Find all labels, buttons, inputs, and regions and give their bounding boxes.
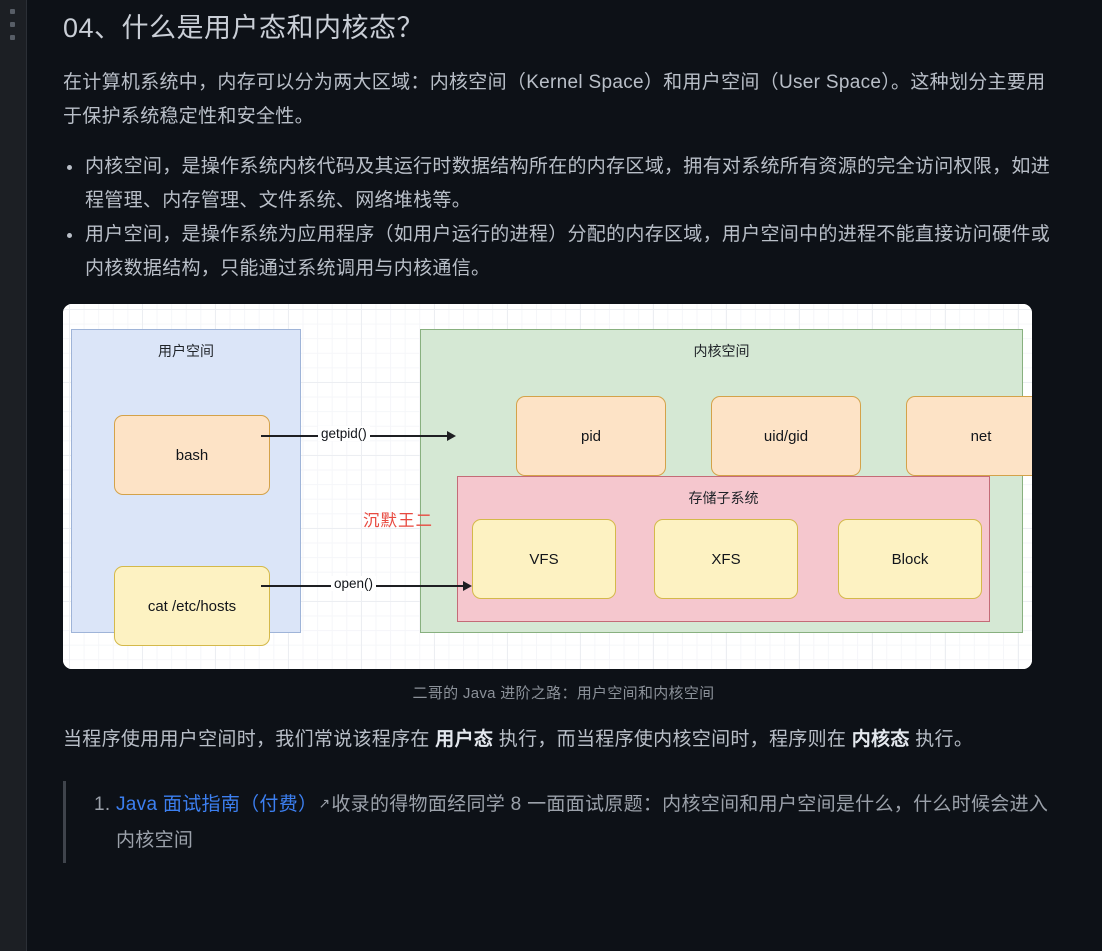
node-bash: bash (114, 415, 270, 495)
rail-dot (10, 22, 15, 27)
footnote-link-java-interview-guide[interactable]: Java 面试指南（付费） (116, 794, 317, 815)
closing-text-2: 执行，而当程序使内核空间时，程序则在 (493, 729, 852, 750)
arrow-open-head-icon (463, 581, 472, 591)
footnote-item: Java 面试指南（付费）↗收录的得物面经同学 8 一面面试原题：内核空间和用户… (116, 785, 1064, 859)
region-storage-subsystem-label: 存储子系统 (458, 488, 989, 508)
closing-paragraph: 当程序使用用户空间时，我们常说该程序在 用户态 执行，而当程序使内核空间时，程序… (63, 723, 1064, 757)
list-item: 内核空间，是操作系统内核代码及其运行时数据结构所在的内存区域，拥有对系统所有资源… (63, 150, 1064, 218)
diagram-figure: 用户空间 bash cat /etc/hosts 内核空间 pid uid/gi… (63, 304, 1064, 703)
article-content: 04、什么是用户态和内核态？ 在计算机系统中，内存可以分为两大区域：内核空间（K… (27, 0, 1102, 951)
node-uid-gid: uid/gid (711, 396, 861, 476)
diagram-canvas: 用户空间 bash cat /etc/hosts 内核空间 pid uid/gi… (63, 304, 1032, 669)
left-rail (0, 0, 27, 951)
closing-bold-user-mode: 用户态 (435, 729, 493, 750)
definition-list: 内核空间，是操作系统内核代码及其运行时数据结构所在的内存区域，拥有对系统所有资源… (63, 150, 1064, 286)
closing-text-1: 当程序使用用户空间时，我们常说该程序在 (63, 729, 435, 750)
external-link-icon: ↗ (317, 795, 331, 811)
closing-text-3: 执行。 (910, 729, 973, 750)
arrow-getpid-label: getpid() (318, 426, 370, 441)
closing-bold-kernel-mode: 内核态 (852, 729, 910, 750)
node-net: net (906, 396, 1032, 476)
region-kernel-space: 内核空间 pid uid/gid net 存储子系统 VFS XFS Block (420, 329, 1023, 633)
arrow-open-label: open() (331, 576, 376, 591)
vertical-dots-icon[interactable] (10, 9, 15, 40)
diagram-card: 用户空间 bash cat /etc/hosts 内核空间 pid uid/gi… (63, 304, 1032, 669)
diagram-watermark: 沉默王二 (363, 507, 433, 531)
node-cat-etc-hosts: cat /etc/hosts (114, 566, 270, 646)
region-user-space: 用户空间 bash cat /etc/hosts (71, 329, 301, 633)
footnote-list: Java 面试指南（付费）↗收录的得物面经同学 8 一面面试原题：内核空间和用户… (100, 785, 1064, 859)
node-vfs: VFS (472, 519, 616, 599)
page-title: 04、什么是用户态和内核态？ (63, 0, 1064, 46)
region-user-space-label: 用户空间 (72, 341, 300, 361)
arrow-getpid-head-icon (447, 431, 456, 441)
region-storage-subsystem: 存储子系统 VFS XFS Block (457, 476, 990, 622)
intro-paragraph: 在计算机系统中，内存可以分为两大区域：内核空间（Kernel Space）和用户… (63, 66, 1064, 134)
node-xfs: XFS (654, 519, 798, 599)
node-pid: pid (516, 396, 666, 476)
node-block: Block (838, 519, 982, 599)
figure-caption: 二哥的 Java 进阶之路：用户空间和内核空间 (63, 682, 1064, 703)
rail-dot (10, 9, 15, 14)
footnote-block: Java 面试指南（付费）↗收录的得物面经同学 8 一面面试原题：内核空间和用户… (63, 781, 1064, 863)
rail-dot (10, 35, 15, 40)
list-item: 用户空间，是操作系统为应用程序（如用户运行的进程）分配的内存区域，用户空间中的进… (63, 218, 1064, 286)
region-kernel-space-label: 内核空间 (421, 341, 1022, 361)
